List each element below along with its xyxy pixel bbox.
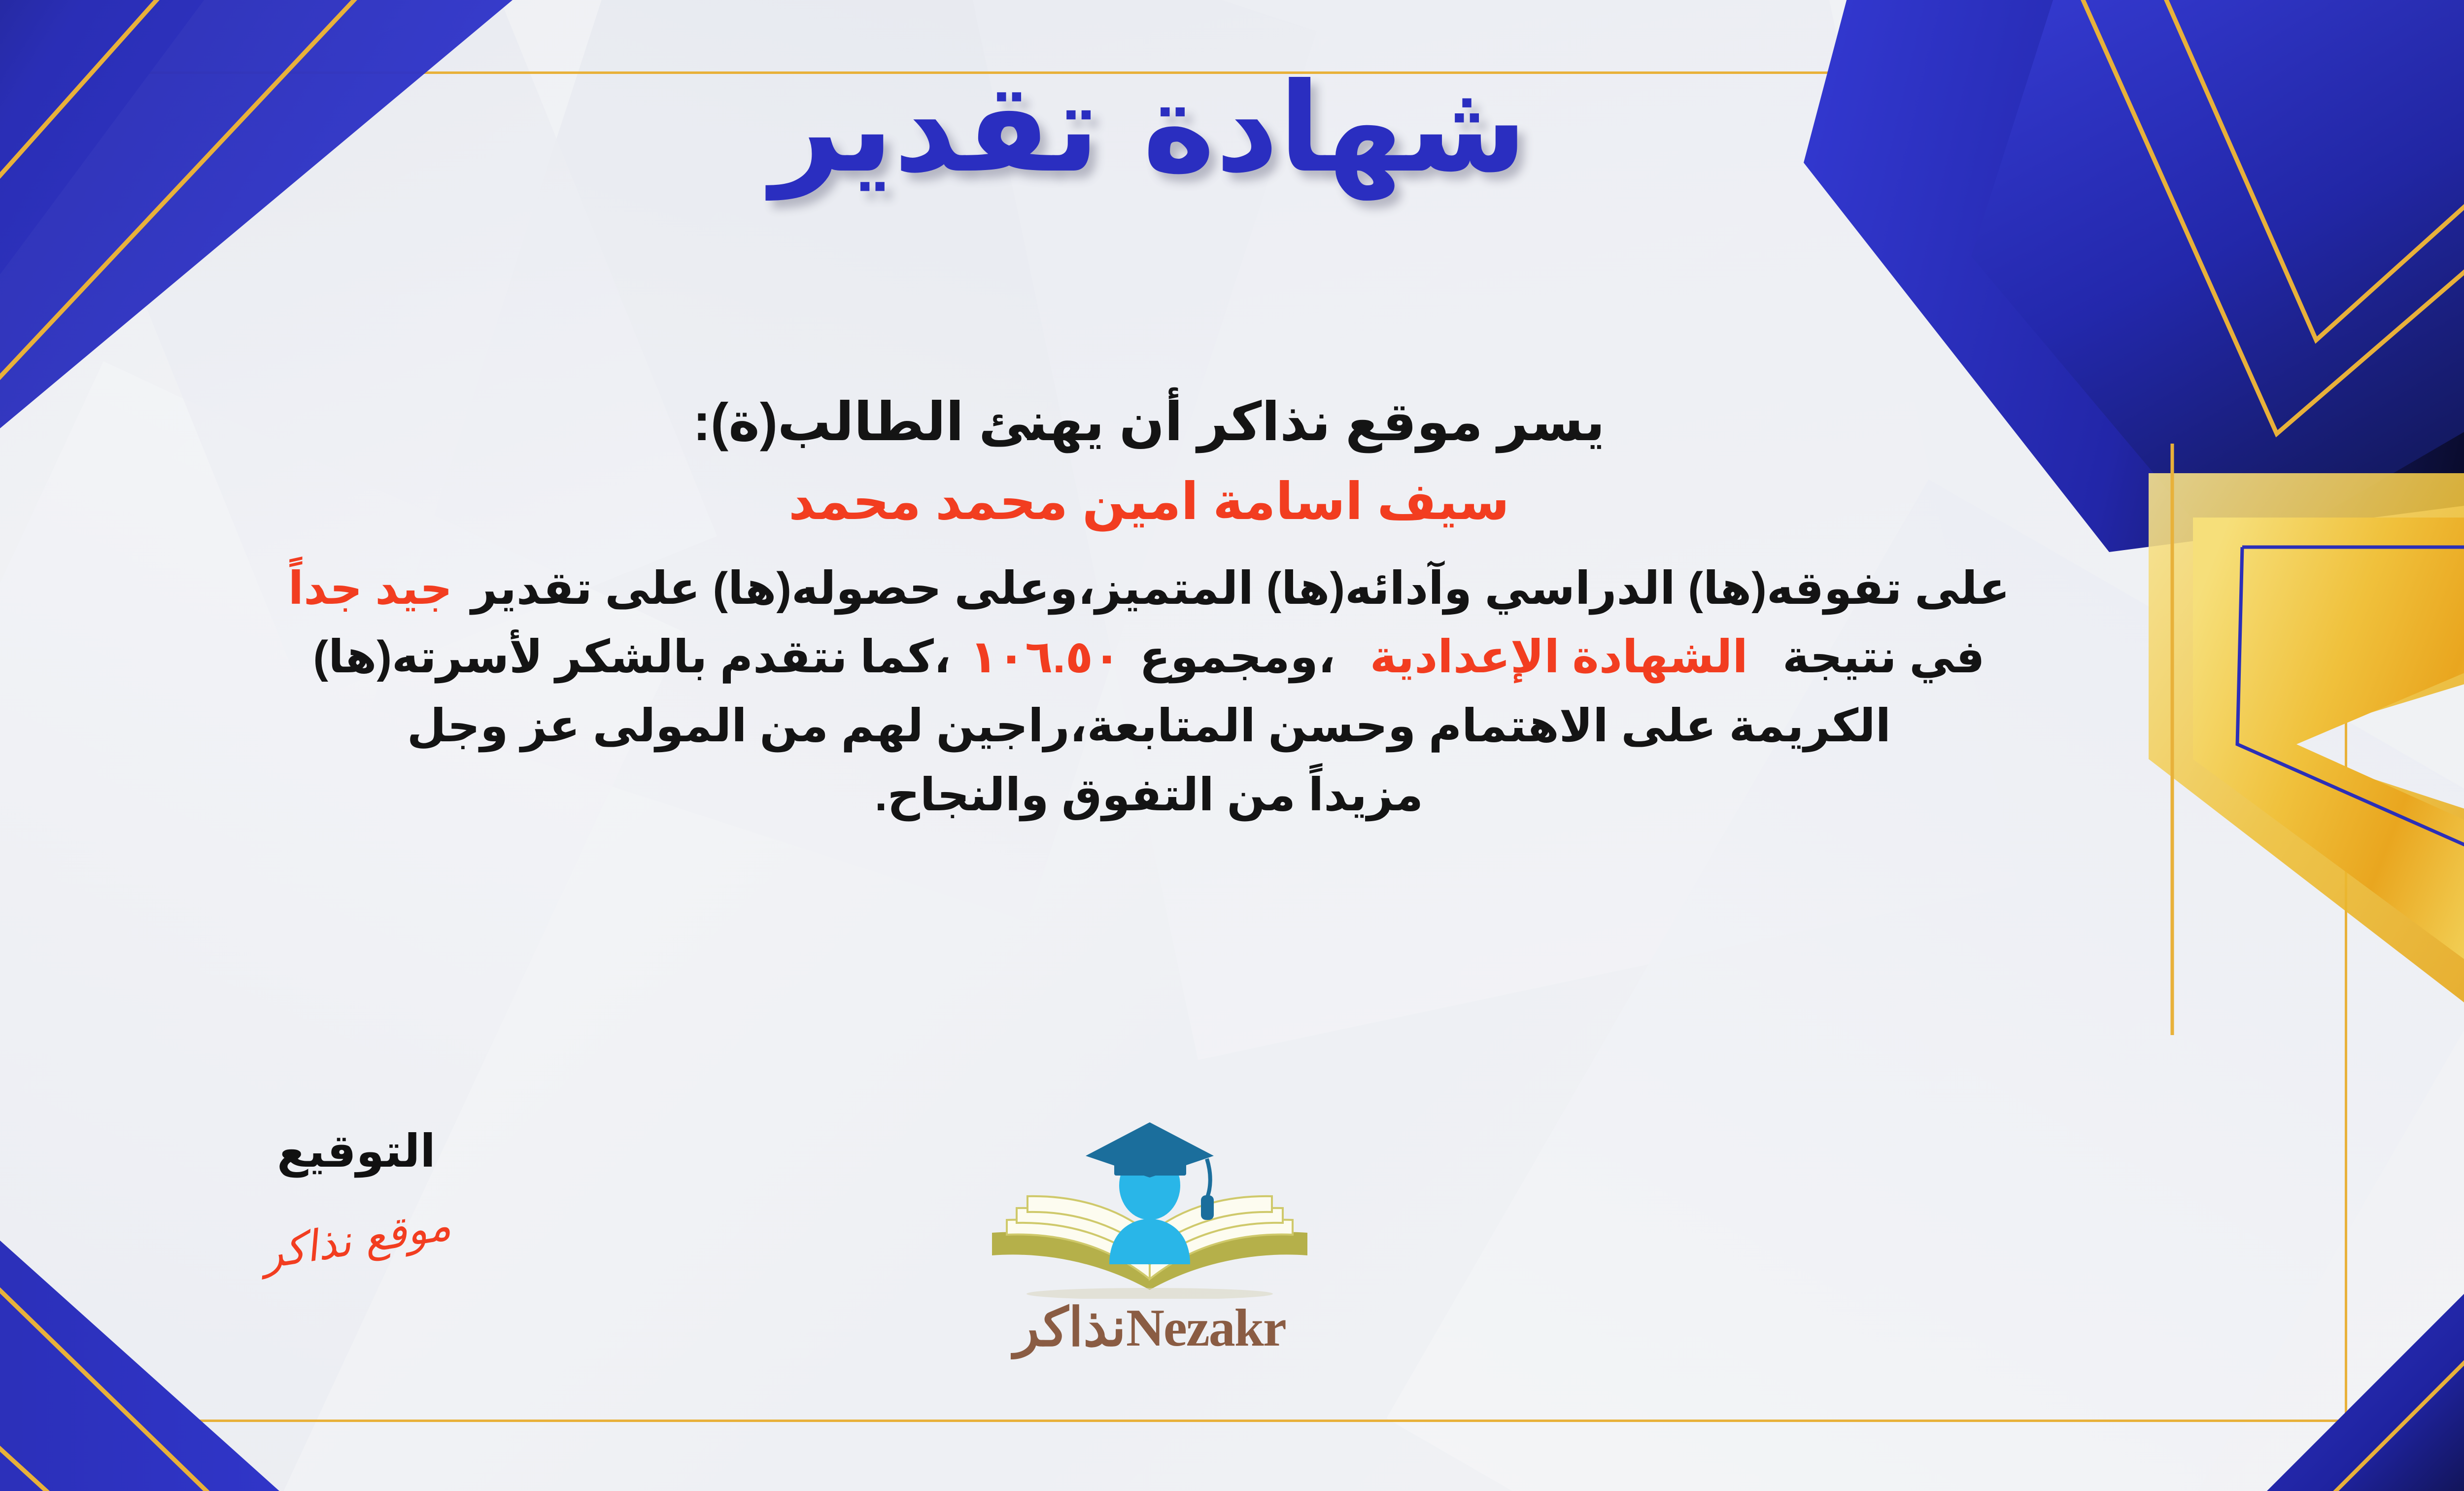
frame-border-bottom	[0, 1420, 2347, 1422]
frame-border-right	[2345, 71, 2347, 1422]
result-text-part-1: في نتيجة	[1782, 632, 1985, 682]
intro-line: يسر موقع نذاكر أن يهنئ الطالب(ة):	[0, 389, 2316, 454]
signature-block: التوقيع موقع نذاكر	[110, 1129, 603, 1261]
closing-paragraph: مزيداً من التفوق والنجاح.	[875, 770, 1423, 820]
certificate-title: شهادة تقدير	[0, 67, 2464, 190]
graduate-book-logo-icon	[933, 1116, 1367, 1299]
logo-wordmark: Nezakrنذاكر	[933, 1302, 1367, 1355]
certificate-body: يسر موقع نذاكر أن يهنئ الطالب(ة): سيف اس…	[0, 389, 2316, 830]
award-text-part-1: على تفوقه(ها) الدراسي وآدائه(ها) المتميز…	[471, 563, 2010, 614]
result-text-part-3: ،كما نتقدم بالشكر لأسرته(ها)	[313, 632, 951, 682]
student-name: سيف اسامة امين محمد محمد	[0, 471, 2316, 533]
grade-value: جيد جداً	[288, 563, 453, 614]
certificate-name: الشهادة الإعدادية	[1370, 632, 1748, 682]
thanks-paragraph: الكريمة على الاهتمام وحسن المتابعة،راجين…	[407, 701, 1891, 751]
certificate-canvas: شهادة تقدير يسر موقع نذاكر أن يهنئ الطال…	[0, 0, 2464, 1491]
signature-label: التوقيع	[110, 1129, 603, 1174]
site-logo: Nezakrنذاكر	[933, 1116, 1367, 1355]
total-score: ١٠٦.٥٠	[970, 632, 1121, 682]
result-text-part-2: ،ومجموع	[1139, 632, 1335, 682]
award-paragraph: على تفوقه(ها) الدراسي وآدائه(ها) المتميز…	[0, 555, 2316, 830]
